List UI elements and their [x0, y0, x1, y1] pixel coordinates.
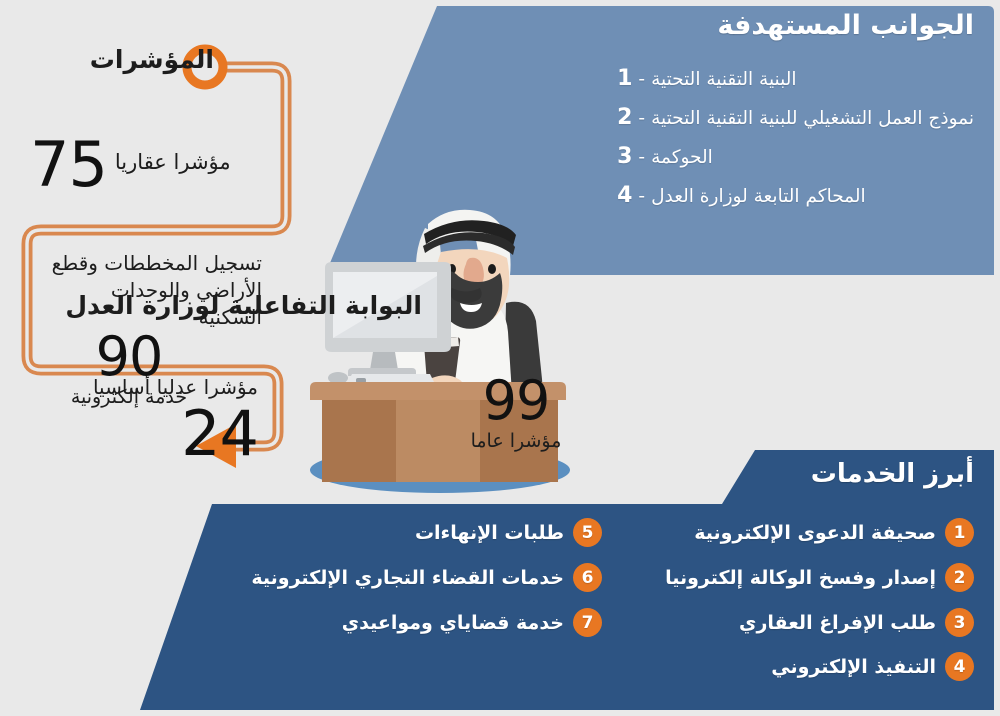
target-item: 2 - نموذج العمل التشغيلي للبنية التقنية …: [617, 105, 974, 130]
target-item-dash: -: [638, 186, 645, 207]
stat-judicial-value: 24: [181, 403, 258, 465]
target-item-dash: -: [638, 69, 645, 90]
target-item-dash: -: [638, 108, 645, 129]
service-label: خدمات القضاء التجاري الإلكترونية: [251, 567, 564, 589]
service-label: خدمة قضاياي ومواعيدي: [342, 612, 564, 634]
service-label: صحيفة الدعوى الإلكترونية: [694, 522, 936, 544]
service-label: التنفيذ الإلكتروني: [771, 656, 936, 678]
target-item-number: 4: [617, 183, 632, 208]
stat-general-indicators-label: مؤشرا عاما: [451, 430, 581, 452]
service-item[interactable]: 1 صحيفة الدعوى الإلكترونية: [694, 518, 974, 547]
service-number-badge: 2: [945, 563, 974, 592]
target-item: 4 - المحاكم التابعة لوزارة العدل: [617, 183, 974, 208]
portal-title: البوابة التفاعلية لوزارة العدل: [65, 291, 422, 320]
target-item: 3 - الحوكمة: [617, 144, 974, 169]
service-label: طلبات الإنهاءات: [415, 522, 564, 544]
infographic-canvas: الجوانب المستهدفة 1 - البنية التقنية الت…: [0, 0, 1000, 716]
stat-general-indicators: 99 مؤشرا عاما: [451, 374, 581, 452]
target-item-label: نموذج العمل التشغيلي للبنية التقنية التح…: [651, 108, 974, 129]
stat-real-estate-value: 75: [30, 134, 107, 196]
service-item[interactable]: 6 خدمات القضاء التجاري الإلكترونية: [251, 563, 602, 592]
target-item-label: البنية التقنية التحتية: [651, 69, 796, 90]
target-item-dash: -: [638, 147, 645, 168]
service-number-badge: 3: [945, 608, 974, 637]
stat-electronic-services: 90 خدمة إلكترونية: [64, 330, 194, 408]
services-panel-title: أبرز الخدمات: [811, 459, 974, 489]
service-label: إصدار وفسخ الوكالة إلكترونيا: [665, 567, 936, 589]
target-item: 1 - البنية التقنية التحتية: [617, 66, 974, 91]
service-number-badge: 6: [573, 563, 602, 592]
target-item-number: 2: [617, 105, 632, 130]
stat-electronic-services-value: 90: [64, 330, 194, 384]
target-item-number: 1: [617, 66, 632, 91]
service-item[interactable]: 3 طلب الإفراغ العقاري: [739, 608, 974, 637]
service-item[interactable]: 4 التنفيذ الإلكتروني: [771, 652, 974, 681]
targets-list: 1 - البنية التقنية التحتية 2 - نموذج الع…: [617, 66, 974, 222]
service-number-badge: 5: [573, 518, 602, 547]
stat-real-estate-indicators: مؤشرا عقاريا75: [30, 134, 260, 196]
service-number-badge: 7: [573, 608, 602, 637]
target-item-number: 3: [617, 144, 632, 169]
target-item-label: الحوكمة: [651, 147, 713, 168]
stat-electronic-services-label: خدمة إلكترونية: [64, 386, 194, 408]
service-item[interactable]: 5 طلبات الإنهاءات: [415, 518, 602, 547]
stat-general-indicators-value: 99: [451, 374, 581, 428]
service-item[interactable]: 7 خدمة قضاياي ومواعيدي: [342, 608, 602, 637]
service-number-badge: 1: [945, 518, 974, 547]
indicators-title: المؤشرات: [90, 45, 214, 74]
targets-panel-title: الجوانب المستهدفة: [717, 10, 974, 41]
stat-real-estate-label: مؤشرا عقاريا: [107, 150, 231, 180]
service-item[interactable]: 2 إصدار وفسخ الوكالة إلكترونيا: [665, 563, 974, 592]
service-label: طلب الإفراغ العقاري: [739, 612, 936, 634]
service-number-badge: 4: [945, 652, 974, 681]
target-item-label: المحاكم التابعة لوزارة العدل: [651, 186, 866, 207]
